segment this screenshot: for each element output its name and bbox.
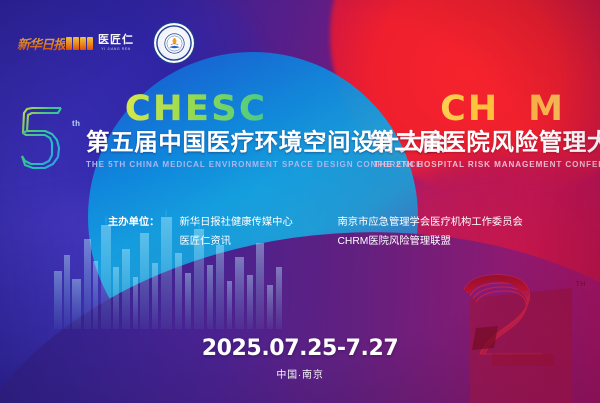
deco-numeral-suffix: TH (576, 281, 586, 288)
acronym-chrm-part2: M (528, 89, 565, 129)
event-date: 2025.07.25-7.27 (0, 336, 600, 361)
organizer-item: 南京市应急管理学会医疗机构工作委员会 (337, 213, 522, 232)
organizer-item: 医匠仁资讯 (179, 232, 337, 251)
organizer-item: CHRM医院风险管理联盟 (337, 232, 522, 251)
logo-yijiangren-en: YI JIANG REN (98, 48, 134, 51)
logo-xinhua-bars-icon (66, 37, 93, 50)
organizers-column-1: 新华日报社健康传媒中心 医匠仁资讯 (179, 213, 337, 251)
right-conference-title-cn: 第二届医院风险管理大会 (370, 130, 600, 156)
sponsor-logo-row: 新华日报 医匠仁 YI JIANG REN (17, 22, 195, 64)
logo-yijiangren: 医匠仁 YI JIANG REN (98, 35, 134, 52)
right-conference-block: CHRM 第二届医院风险管理大会 THE 2TH HOSPITAL RISK M… (370, 92, 600, 169)
association-emblem-icon (164, 33, 185, 54)
acronym-chrm-flipped-r: R (499, 92, 528, 127)
logo-yijiangren-cn: 医匠仁 (98, 35, 134, 46)
organizer-item: 新华日报社健康传媒中心 (179, 213, 337, 232)
numeral-5-outline-icon (14, 101, 72, 173)
right-conference-title-en: THE 2TH HOSPITAL RISK MANAGEMENT CONFERE… (370, 160, 600, 169)
event-location: 中国·南京 (0, 366, 600, 381)
organizers-column-2: 南京市应急管理学会医疗机构工作委员会 CHRM医院风险管理联盟 (337, 213, 522, 251)
logo-association-badge (153, 22, 195, 64)
acronym-chrm-part1: CH (440, 89, 499, 129)
acronym-chrm: CHRM (370, 92, 600, 127)
logo-xinhua-script-text: 新华日报 (17, 34, 65, 53)
organizers-columns: 新华日报社健康传媒中心 医匠仁资讯 南京市应急管理学会医疗机构工作委员会 CHR… (179, 213, 522, 251)
event-date-block: 2025.07.25-7.27 中国·南京 (0, 336, 600, 381)
organizers-section: 主办单位： 新华日报社健康传媒中心 医匠仁资讯 南京市应急管理学会医疗机构工作委… (108, 213, 523, 251)
ordinal-suffix-th: th (72, 119, 81, 128)
ordinal-5-graphic: th (14, 101, 72, 173)
conference-poster: 新华日报 医匠仁 YI JIANG REN (0, 0, 600, 403)
logo-xinhua-daily: 新华日报 (17, 34, 79, 53)
organizers-label: 主办单位： (108, 213, 159, 232)
